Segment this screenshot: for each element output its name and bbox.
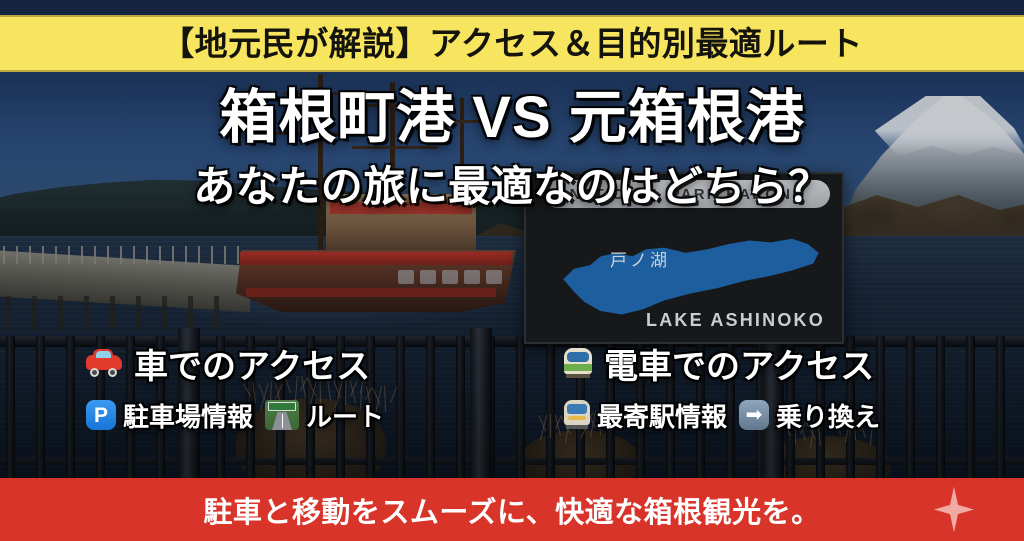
- hero-title: 箱根町港 VS 元箱根港: [219, 88, 805, 149]
- motorway-icon: [265, 400, 299, 430]
- subitem-nearest-station[interactable]: 最寄駅情報: [564, 397, 727, 434]
- thumbnail-canvas: 【地元民が解説】アクセス＆目的別最適ルート NATIONAL PARK HAKO…: [0, 0, 1024, 541]
- header-banner: 【地元民が解説】アクセス＆目的別最適ルート: [0, 15, 1024, 72]
- subitem-label-route: ルート: [306, 397, 384, 434]
- feature-heading-car: 車でのアクセス: [86, 336, 546, 390]
- feature-label-car: 車でのアクセス: [134, 339, 370, 388]
- lake-label-jp: 戸ノ湖: [610, 246, 670, 271]
- parking-p-icon: P: [86, 400, 116, 430]
- subitem-parking[interactable]: P 駐車場情報: [86, 397, 253, 434]
- lake-label-en: LAKE ASHINOKO: [646, 310, 825, 331]
- header-title: 【地元民が解説】アクセス＆目的別最適ルート: [161, 27, 863, 60]
- hero-text-block: 箱根町港 VS 元箱根港 あなたの旅に最適なのはどちら？: [0, 88, 1024, 209]
- feature-subitems-car: P 駐車場情報 ルート: [86, 390, 546, 440]
- subitem-label-transfer: 乗り換え: [776, 397, 880, 434]
- sparkle-star-icon: [934, 487, 974, 533]
- lake-ashinoko-shape: [558, 230, 824, 318]
- metro-icon: [564, 400, 590, 430]
- feature-column-train: 電車でのアクセス 最寄駅情報 ➡ 乗り換え: [546, 336, 1024, 468]
- feature-heading-train: 電車でのアクセス: [564, 336, 1024, 390]
- subitem-label-parking: 駐車場情報: [123, 397, 253, 434]
- red-car-icon: [86, 349, 122, 377]
- feature-subitems-train: 最寄駅情報 ➡ 乗り換え: [564, 390, 1024, 440]
- train-icon: [564, 347, 592, 379]
- subitem-transfer[interactable]: ➡ 乗り換え: [739, 397, 880, 434]
- subitem-route[interactable]: ルート: [265, 397, 384, 434]
- right-arrow-icon: ➡: [739, 400, 769, 430]
- hero-subtitle: あなたの旅に最適なのはどちら？: [193, 165, 831, 209]
- feature-label-train: 電車でのアクセス: [604, 339, 874, 388]
- feature-column-car: 車でのアクセス P 駐車場情報 ルート: [0, 336, 546, 468]
- feature-columns: 車でのアクセス P 駐車場情報 ルート: [0, 336, 1024, 468]
- bottom-banner-text: 駐車と移動をスムーズに、快適な箱根観光を。: [203, 489, 820, 531]
- bottom-banner: 駐車と移動をスムーズに、快適な箱根観光を。: [0, 478, 1024, 541]
- subitem-label-nearest-station: 最寄駅情報: [597, 397, 727, 434]
